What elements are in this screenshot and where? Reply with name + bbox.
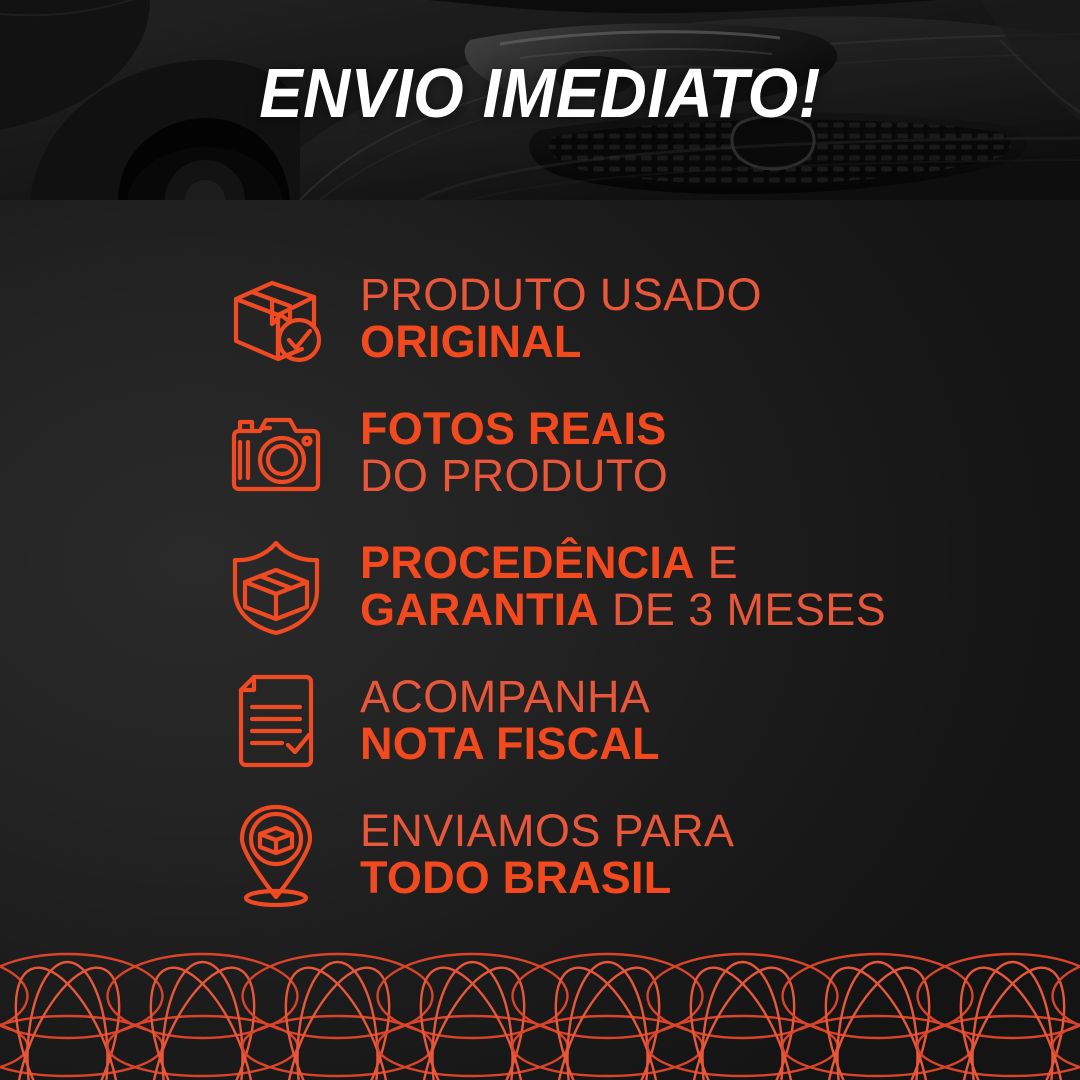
feature-item-procedencia-garantia: PROCEDÊNCIA E GARANTIA DE 3 MESES (0, 520, 1080, 654)
feature-text: ENVIAMOS PARA TODO BRASIL (360, 808, 734, 902)
feature-line-2-strong: GARANTIA (360, 584, 599, 635)
feature-line-1-thin: E (695, 537, 738, 588)
feature-text: FOTOS REAIS DO PRODUTO (360, 406, 668, 500)
camera-icon (224, 401, 328, 505)
feature-item-nota-fiscal: ACOMPANHA NOTA FISCAL (0, 654, 1080, 788)
feature-text: PRODUTO USADO ORIGINAL (360, 272, 762, 366)
feature-line-1: FOTOS REAIS (360, 406, 668, 453)
feature-line-2: NOTA FISCAL (360, 721, 660, 768)
package-box-check-icon (224, 267, 328, 371)
feature-line-1: PROCEDÊNCIA E (360, 540, 886, 587)
hero-banner: ENVIO IMEDIATO! (0, 0, 1080, 200)
feature-line-1: ENVIAMOS PARA (360, 808, 734, 855)
shield-box-icon (224, 535, 328, 639)
feature-line-2: ORIGINAL (360, 319, 762, 366)
feature-item-todo-brasil: ENVIAMOS PARA TODO BRASIL (0, 788, 1080, 922)
geometric-lotus-lattice-icon (0, 940, 1080, 1080)
feature-item-produto-usado-original: PRODUTO USADO ORIGINAL (0, 252, 1080, 386)
promo-banner: ENVIO IMEDIATO! PRODUTO USADO ORIGINAL (0, 0, 1080, 1080)
document-check-icon (224, 669, 328, 773)
feature-line-2: TODO BRASIL (360, 855, 734, 902)
feature-line-1-strong: PROCEDÊNCIA (360, 537, 695, 588)
feature-text: ACOMPANHA NOTA FISCAL (360, 674, 660, 768)
feature-line-2-thin: DE 3 MESES (599, 584, 886, 635)
map-pin-box-icon (224, 803, 328, 907)
feature-text: PROCEDÊNCIA E GARANTIA DE 3 MESES (360, 540, 886, 634)
feature-line-2: DO PRODUTO (360, 453, 668, 500)
hero-title: ENVIO IMEDIATO! (38, 58, 1042, 128)
feature-line-1: ACOMPANHA (360, 674, 660, 721)
feature-list: PRODUTO USADO ORIGINAL (0, 200, 1080, 940)
feature-line-2: GARANTIA DE 3 MESES (360, 587, 886, 634)
decorative-pattern-border (0, 940, 1080, 1080)
feature-line-1: PRODUTO USADO (360, 272, 762, 319)
feature-item-fotos-reais: FOTOS REAIS DO PRODUTO (0, 386, 1080, 520)
